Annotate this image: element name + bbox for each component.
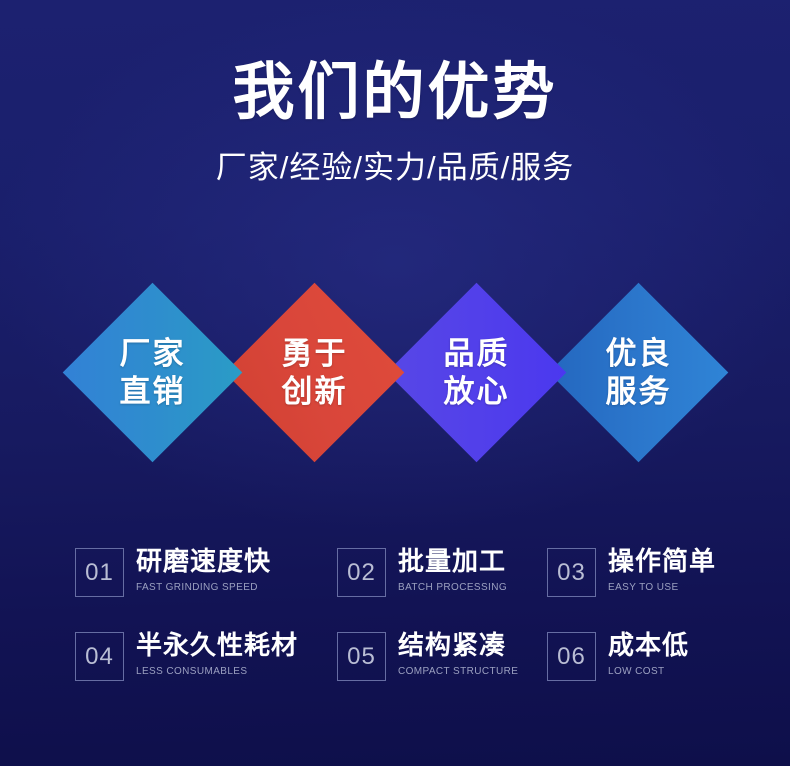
feature-row-2: 04 半永久性耗材 LESS CONSUMABLES 05 结构紧凑 COMPA… [75, 629, 735, 713]
diamond-label-2-line1: 勇于 [282, 335, 348, 373]
diamond-card-1[interactable]: 厂家 直销 [63, 283, 243, 463]
feature-item-05[interactable]: 05 结构紧凑 COMPACT STRUCTURE [337, 629, 547, 713]
feature-title-05: 结构紧凑 [398, 629, 518, 661]
feature-item-01[interactable]: 01 研磨速度快 FAST GRINDING SPEED [75, 545, 337, 629]
feature-subtitle-06: LOW COST [608, 665, 689, 679]
feature-grid: 01 研磨速度快 FAST GRINDING SPEED 02 批量加工 BAT… [75, 545, 735, 713]
diamond-label-4-line2: 服务 [606, 373, 672, 411]
diamond-card-2[interactable]: 勇于 创新 [225, 283, 405, 463]
feature-number-03: 03 [547, 548, 596, 597]
feature-number-05: 05 [337, 632, 386, 681]
diamond-label-1-line1: 厂家 [120, 335, 186, 373]
feature-subtitle-02: BATCH PROCESSING [398, 581, 507, 595]
feature-number-06: 06 [547, 632, 596, 681]
feature-text-04: 半永久性耗材 LESS CONSUMABLES [136, 629, 298, 679]
feature-text-03: 操作简单 EASY TO USE [608, 545, 716, 595]
diamond-label-2-line2: 创新 [282, 373, 348, 411]
feature-subtitle-04: LESS CONSUMABLES [136, 665, 298, 679]
diamond-group: 厂家 直销 勇于 创新 品质 放心 优良 服务 [0, 283, 790, 463]
feature-item-04[interactable]: 04 半永久性耗材 LESS CONSUMABLES [75, 629, 337, 713]
feature-text-06: 成本低 LOW COST [608, 629, 689, 679]
diamond-label-1: 厂家 直销 [59, 279, 246, 466]
feature-number-01: 01 [75, 548, 124, 597]
feature-number-02: 02 [337, 548, 386, 597]
feature-item-02[interactable]: 02 批量加工 BATCH PROCESSING [337, 545, 547, 629]
diamond-label-3: 品质 放心 [383, 279, 570, 466]
diamond-label-3-line1: 品质 [444, 335, 510, 373]
feature-number-04: 04 [75, 632, 124, 681]
feature-item-03[interactable]: 03 操作简单 EASY TO USE [547, 545, 735, 629]
feature-subtitle-03: EASY TO USE [608, 581, 716, 595]
diamond-label-3-line2: 放心 [444, 373, 510, 411]
feature-title-01: 研磨速度快 [136, 545, 271, 577]
diamond-label-2: 勇于 创新 [221, 279, 408, 466]
diamond-card-4[interactable]: 优良 服务 [549, 283, 729, 463]
feature-title-06: 成本低 [608, 629, 689, 661]
diamond-label-4-line1: 优良 [606, 335, 672, 373]
diamond-label-1-line2: 直销 [120, 373, 186, 411]
diamond-card-3[interactable]: 品质 放心 [387, 283, 567, 463]
diamond-label-4: 优良 服务 [545, 279, 732, 466]
feature-title-02: 批量加工 [398, 545, 507, 577]
page-title: 我们的优势 [0, 56, 790, 130]
header: 我们的优势 厂家/经验/实力/品质/服务 [0, 56, 790, 189]
feature-item-06[interactable]: 06 成本低 LOW COST [547, 629, 735, 713]
feature-subtitle-05: COMPACT STRUCTURE [398, 665, 518, 679]
feature-text-01: 研磨速度快 FAST GRINDING SPEED [136, 545, 271, 595]
feature-text-02: 批量加工 BATCH PROCESSING [398, 545, 507, 595]
feature-title-03: 操作简单 [608, 545, 716, 577]
feature-title-04: 半永久性耗材 [136, 629, 298, 661]
page-subtitle: 厂家/经验/实力/品质/服务 [0, 147, 790, 189]
feature-row-1: 01 研磨速度快 FAST GRINDING SPEED 02 批量加工 BAT… [75, 545, 735, 629]
feature-subtitle-01: FAST GRINDING SPEED [136, 581, 271, 595]
advantages-banner: 我们的优势 厂家/经验/实力/品质/服务 厂家 直销 勇于 创新 品质 放心 优… [0, 0, 790, 766]
feature-text-05: 结构紧凑 COMPACT STRUCTURE [398, 629, 518, 679]
